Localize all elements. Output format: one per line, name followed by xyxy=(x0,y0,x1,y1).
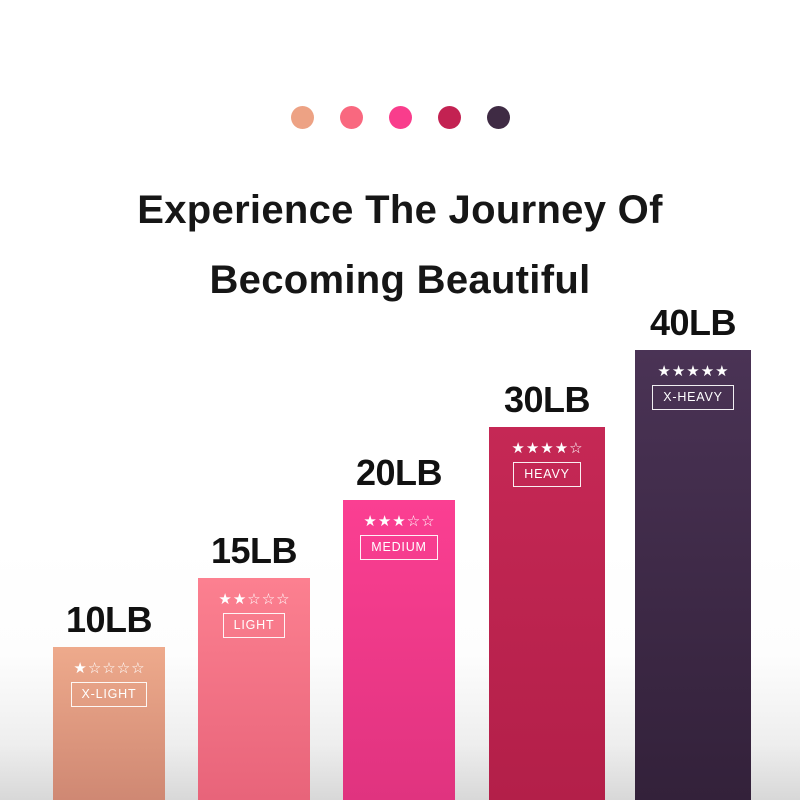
bar-group-20lb[interactable]: 20LB★★★☆☆MEDIUM xyxy=(343,500,455,800)
star-filled-icon: ★ xyxy=(233,592,246,607)
star-filled-icon: ★ xyxy=(511,441,524,456)
star-rating: ★★★★☆ xyxy=(511,441,582,456)
star-empty-icon: ☆ xyxy=(102,661,115,676)
star-filled-icon: ★ xyxy=(672,364,685,379)
bar-group-30lb[interactable]: 30LB★★★★☆HEAVY xyxy=(489,427,605,800)
bar-column: ★☆☆☆☆X-LIGHT xyxy=(53,647,165,800)
bar-column: ★★☆☆☆LIGHT xyxy=(198,578,310,800)
star-empty-icon: ☆ xyxy=(421,514,434,529)
star-empty-icon: ☆ xyxy=(131,661,144,676)
star-rating: ★★★☆☆ xyxy=(363,514,434,529)
bar-badge: ★★★★☆HEAVY xyxy=(489,441,605,487)
star-filled-icon: ★ xyxy=(378,514,391,529)
star-empty-icon: ☆ xyxy=(88,661,101,676)
star-filled-icon: ★ xyxy=(701,364,714,379)
bar-weight-label: 30LB xyxy=(489,379,605,427)
star-filled-icon: ★ xyxy=(392,514,405,529)
star-empty-icon: ☆ xyxy=(407,514,420,529)
bar-badge: ★★☆☆☆LIGHT xyxy=(198,592,310,638)
bar-badge: ★☆☆☆☆X-LIGHT xyxy=(53,661,165,707)
bar-level-label: LIGHT xyxy=(223,613,286,638)
bar-weight-label: 10LB xyxy=(53,599,165,647)
bar-weight-label: 15LB xyxy=(198,530,310,578)
star-rating: ★★☆☆☆ xyxy=(218,592,289,607)
star-empty-icon: ☆ xyxy=(569,441,582,456)
bar-badge: ★★★★★X-HEAVY xyxy=(635,364,751,410)
star-filled-icon: ★ xyxy=(555,441,568,456)
bar-column: ★★★★★X-HEAVY xyxy=(635,350,751,800)
bar-level-label: HEAVY xyxy=(513,462,580,487)
star-filled-icon: ★ xyxy=(686,364,699,379)
star-rating: ★☆☆☆☆ xyxy=(73,661,144,676)
bar-column: ★★★★☆HEAVY xyxy=(489,427,605,800)
star-filled-icon: ★ xyxy=(526,441,539,456)
star-filled-icon: ★ xyxy=(218,592,231,607)
star-filled-icon: ★ xyxy=(657,364,670,379)
star-filled-icon: ★ xyxy=(540,441,553,456)
star-empty-icon: ☆ xyxy=(276,592,289,607)
star-empty-icon: ☆ xyxy=(247,592,260,607)
bar-level-label: X-LIGHT xyxy=(71,682,148,707)
star-filled-icon: ★ xyxy=(73,661,86,676)
bar-level-label: MEDIUM xyxy=(360,535,438,560)
bar-level-label: X-HEAVY xyxy=(652,385,734,410)
bar-group-10lb[interactable]: 10LB★☆☆☆☆X-LIGHT xyxy=(53,647,165,800)
star-empty-icon: ☆ xyxy=(262,592,275,607)
star-filled-icon: ★ xyxy=(715,364,728,379)
bar-badge: ★★★☆☆MEDIUM xyxy=(343,514,455,560)
bar-group-40lb[interactable]: 40LB★★★★★X-HEAVY xyxy=(635,350,751,800)
star-filled-icon: ★ xyxy=(363,514,376,529)
star-empty-icon: ☆ xyxy=(117,661,130,676)
bar-column: ★★★☆☆MEDIUM xyxy=(343,500,455,800)
bar-group-15lb[interactable]: 15LB★★☆☆☆LIGHT xyxy=(198,578,310,800)
star-rating: ★★★★★ xyxy=(657,364,728,379)
bar-weight-label: 20LB xyxy=(343,452,455,500)
bar-weight-label: 40LB xyxy=(635,302,751,350)
resistance-band-bar-chart: 10LB★☆☆☆☆X-LIGHT15LB★★☆☆☆LIGHT20LB★★★☆☆M… xyxy=(0,0,800,800)
